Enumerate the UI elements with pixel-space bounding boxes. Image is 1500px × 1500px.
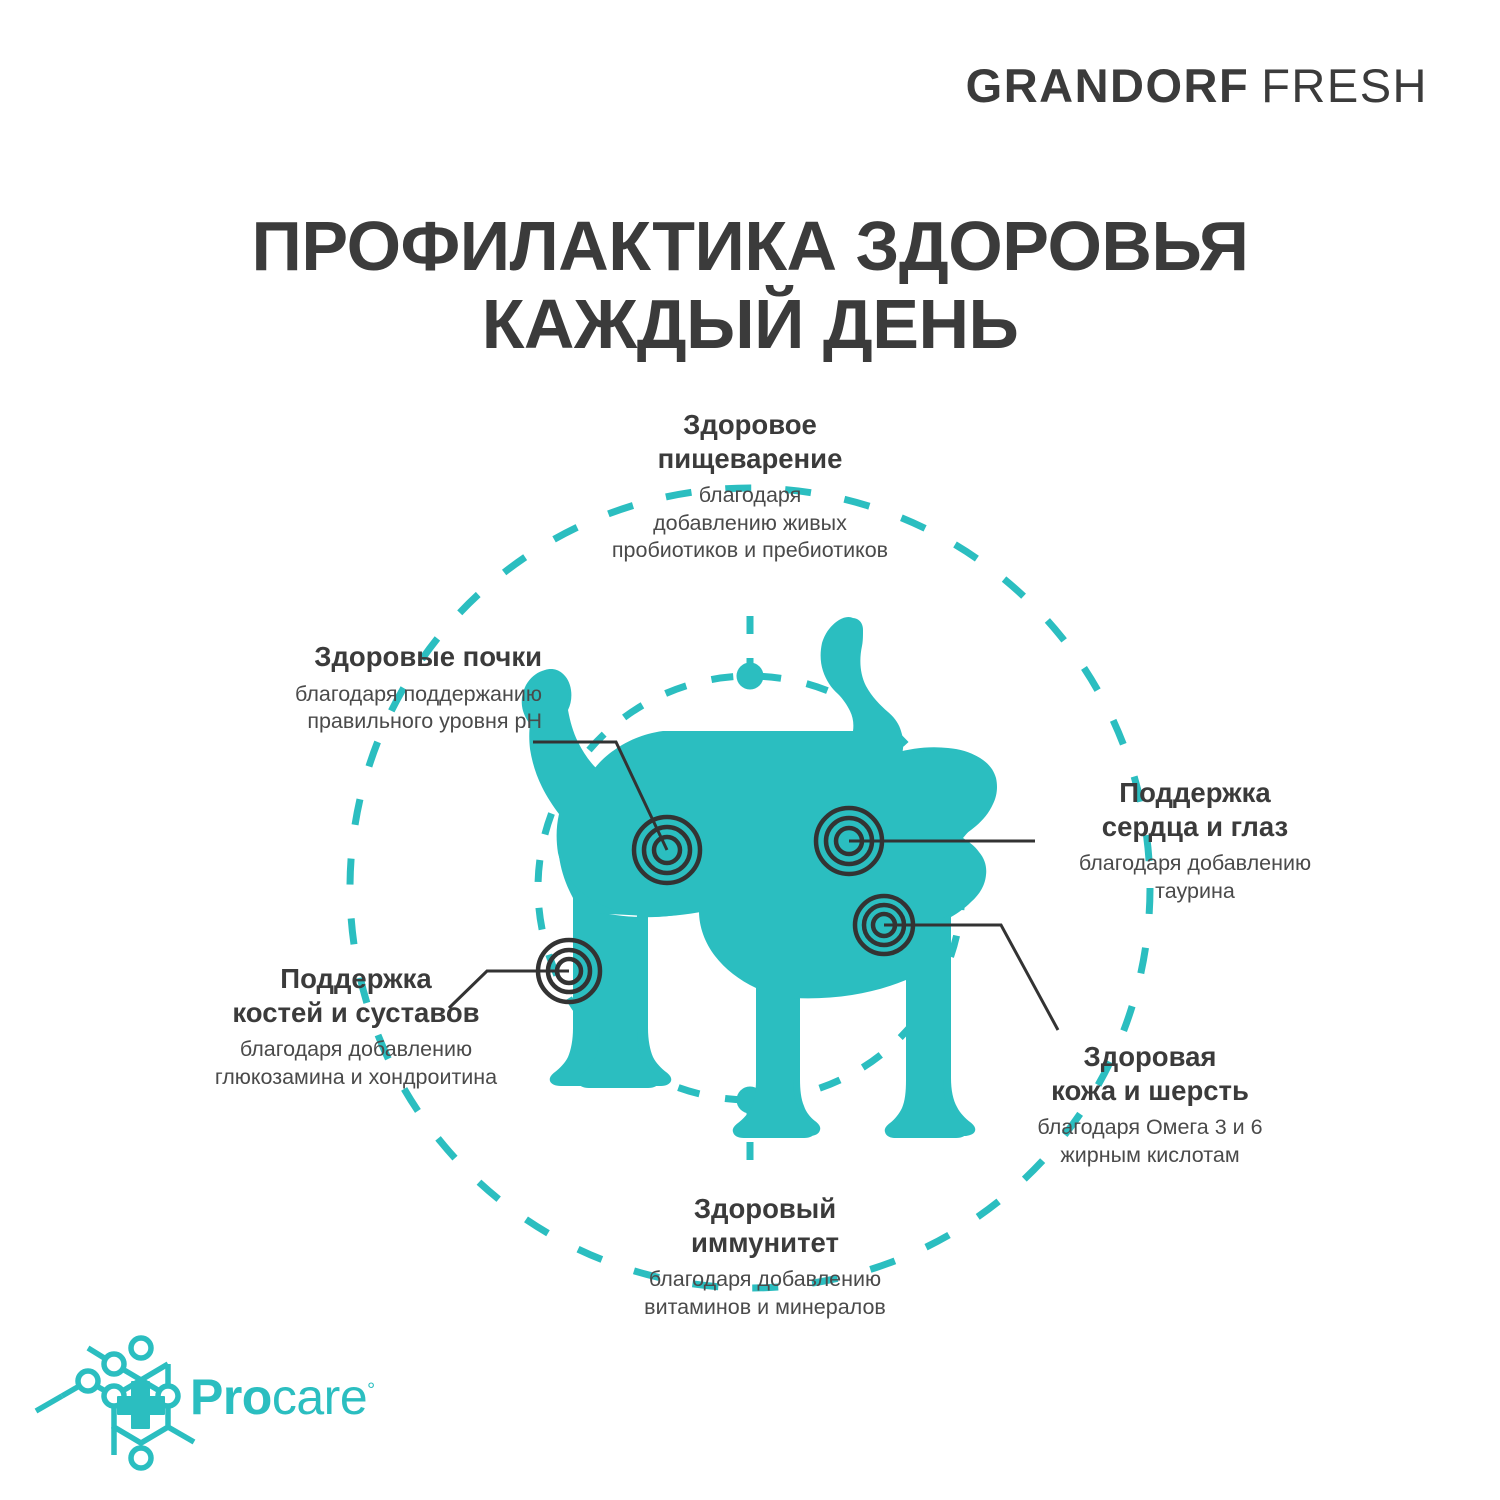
callout-immunity: Здоровый иммунитет благодаря добавлению … [545,1192,985,1321]
callout-immunity-desc: благодаря добавлению витаминов и минерал… [545,1266,985,1321]
callout-kidneys-desc: благодаря поддержанию правильного уровня… [150,681,542,736]
procare-pro-text: Pro [190,1369,272,1425]
callout-heart-title: Поддержка сердца и глаз [1000,776,1390,843]
callout-digestion-desc: благодаря добавлению живых пробиотиков и… [520,482,980,565]
callout-immunity-title: Здоровый иммунитет [545,1192,985,1259]
procare-care-text: care [272,1369,367,1425]
callout-kidneys: Здоровые почки благодаря поддержанию пра… [150,640,542,736]
callout-skin-desc: благодаря Омега 3 и 6 жирным кислотам [955,1114,1345,1169]
infographic-canvas: GRANDORFFRESH ПРОФИЛАКТИКА ЗДОРОВЬЯ КАЖД… [0,0,1500,1500]
procare-molecule-icon [36,1338,194,1468]
callout-skin: Здоровая кожа и шерсть благодаря Омега 3… [955,1040,1345,1169]
dog-silhouette [522,617,997,1138]
callout-kidneys-title: Здоровые почки [150,640,542,674]
callout-heart-desc: благодаря добавлению таурина [1000,850,1390,905]
callout-bones-title: Поддержка костей и суставов [140,962,572,1029]
callout-skin-title: Здоровая кожа и шерсть [955,1040,1345,1107]
procare-degree-mark: ° [367,1379,375,1401]
procare-logo: Procare° [190,1368,375,1426]
callout-bones: Поддержка костей и суставов благодаря до… [140,962,572,1091]
callout-digestion: Здоровое пищеварение благодаря добавлени… [520,408,980,565]
connector-dot-top [737,663,764,690]
callout-digestion-title: Здоровое пищеварение [520,408,980,475]
callout-heart: Поддержка сердца и глаз благодаря добавл… [1000,776,1390,905]
callout-bones-desc: благодаря добавлению глюкозамина и хондр… [140,1036,572,1091]
